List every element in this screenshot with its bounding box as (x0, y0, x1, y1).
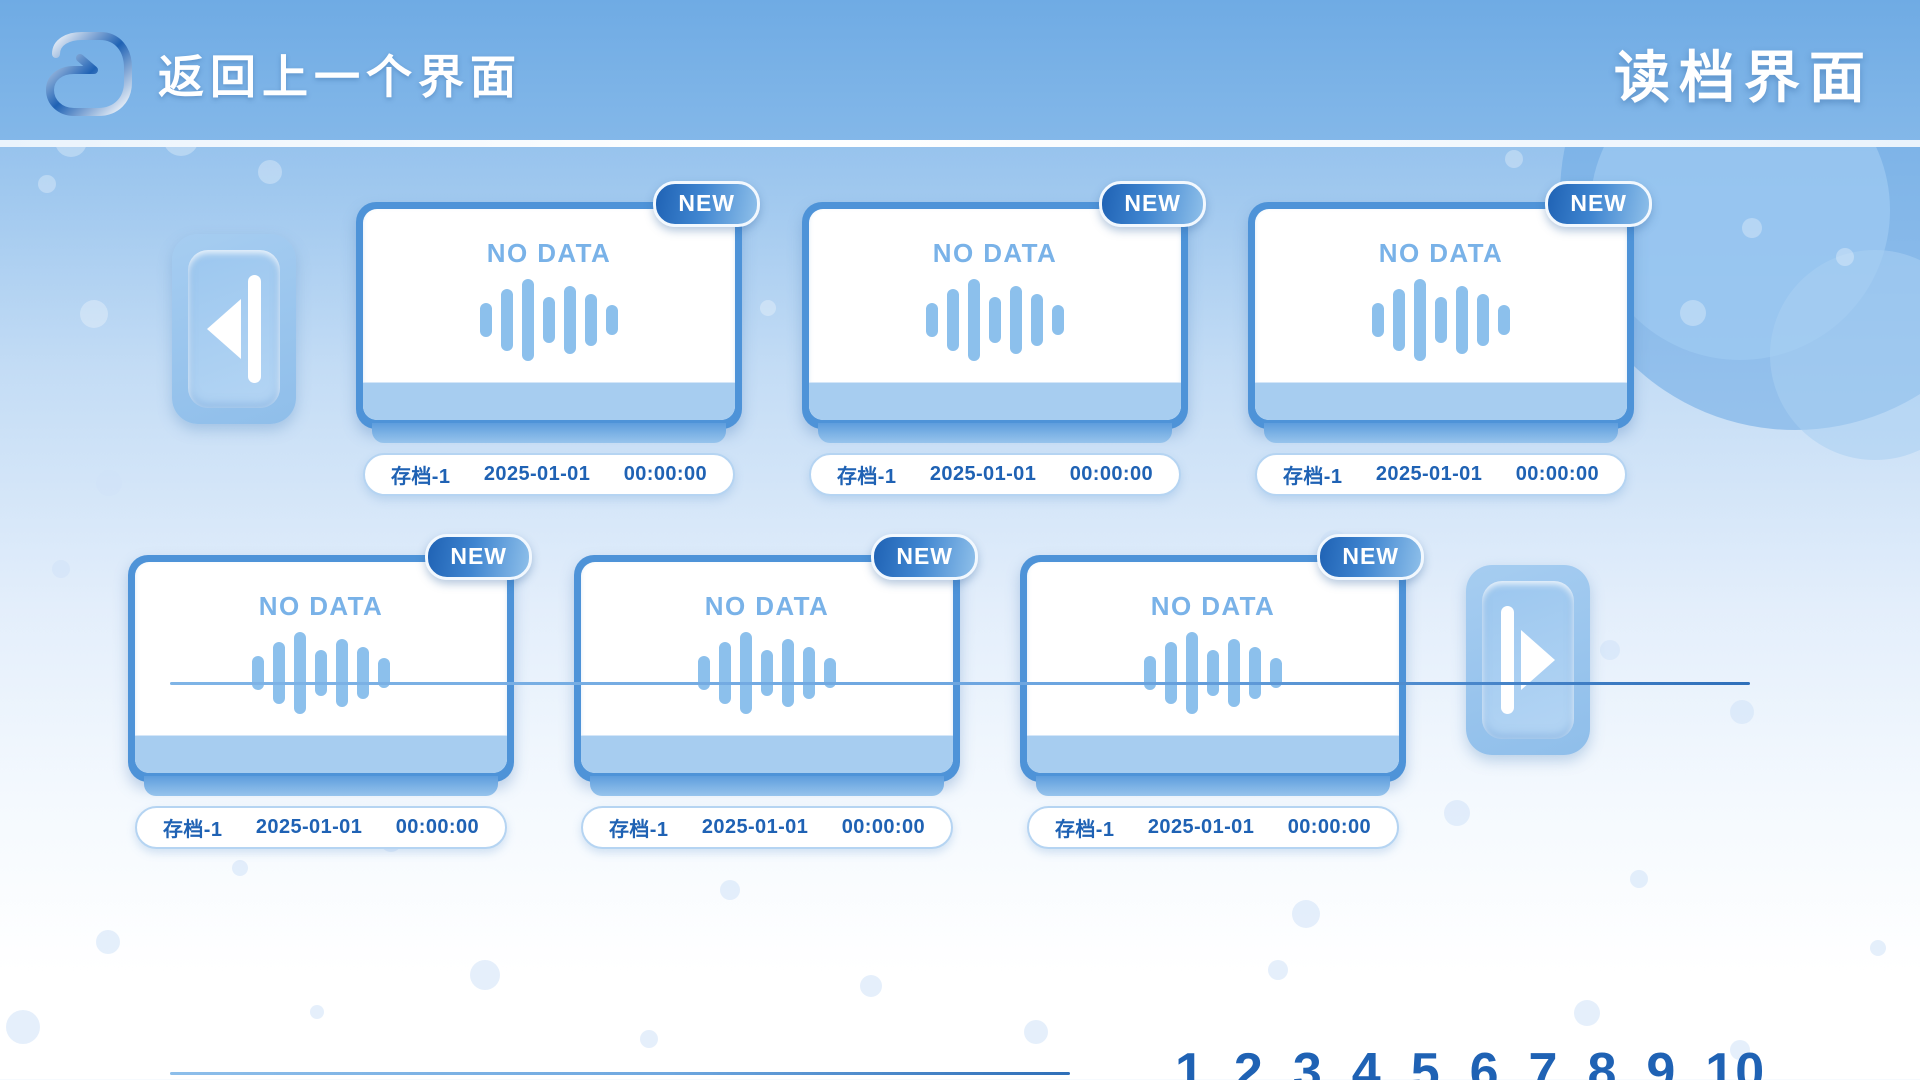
waveform-bar (273, 642, 285, 704)
save-slot-time: 00:00:00 (396, 816, 479, 839)
save-slot-preview: NO DATA (363, 209, 735, 420)
save-slot-preview: NO DATA (1027, 562, 1399, 773)
waveform-bar (740, 632, 752, 714)
save-slot[interactable]: NEW NO DATA 存档-1 2025-01-01 00:00:00 (1248, 202, 1634, 496)
waveform-bar (1031, 294, 1043, 346)
card-base (818, 423, 1172, 443)
page-number-9[interactable]: 9 (1646, 1042, 1676, 1080)
save-slot-name: 存档-1 (1055, 813, 1114, 842)
save-slot-date: 2025-01-01 (702, 816, 808, 839)
card-shelf (363, 382, 735, 420)
save-slot-row-1: NEW NO DATA 存档-1 2025-01-01 00:00:00 NEW… (172, 202, 1634, 496)
page-number-8[interactable]: 8 (1587, 1042, 1617, 1080)
waveform-bar (1393, 289, 1405, 351)
save-slot-preview: NO DATA (1255, 209, 1627, 420)
waveform-icon (1372, 277, 1510, 363)
save-slot-time: 00:00:00 (842, 816, 925, 839)
save-slot-date: 2025-01-01 (1148, 816, 1254, 839)
bottom-divider (170, 1072, 1070, 1075)
save-slot-row-2: NEW NO DATA 存档-1 2025-01-01 00:00:00 NEW… (128, 555, 1590, 849)
new-badge[interactable]: NEW (1317, 534, 1424, 580)
waveform-bar (1010, 286, 1022, 354)
save-slot[interactable]: NEW NO DATA 存档-1 2025-01-01 00:00:00 (574, 555, 960, 849)
waveform-bar (947, 289, 959, 351)
waveform-bar (1414, 279, 1426, 361)
save-slot-card[interactable]: NEW NO DATA (574, 555, 960, 782)
waveform-bar (926, 303, 938, 337)
save-slot-time: 00:00:00 (1070, 463, 1153, 486)
waveform-bar (564, 286, 576, 354)
save-slot-date: 2025-01-01 (930, 463, 1036, 486)
save-slot-meta: 存档-1 2025-01-01 00:00:00 (1027, 806, 1399, 849)
main-stage: NEW NO DATA 存档-1 2025-01-01 00:00:00 NEW… (0, 147, 1920, 1080)
next-page-button-inner (1482, 581, 1574, 739)
save-slot-time: 00:00:00 (1516, 463, 1599, 486)
page-bar-icon (1501, 606, 1514, 714)
waveform-bar (1052, 305, 1064, 335)
save-slot-date: 2025-01-01 (256, 816, 362, 839)
waveform-bar (1456, 286, 1468, 354)
save-slot-time: 00:00:00 (624, 463, 707, 486)
save-slot[interactable]: NEW NO DATA 存档-1 2025-01-01 00:00:00 (802, 202, 1188, 496)
no-data-label: NO DATA (1379, 238, 1503, 269)
page-number-4[interactable]: 4 (1352, 1042, 1382, 1080)
waveform-bar (336, 639, 348, 707)
save-slot-name: 存档-1 (1283, 460, 1342, 489)
waveform-bar (1435, 297, 1447, 343)
page-number-1[interactable]: 1 (1175, 1042, 1205, 1080)
new-badge[interactable]: NEW (653, 181, 760, 227)
save-slot-meta: 存档-1 2025-01-01 00:00:00 (363, 453, 735, 496)
card-shelf (1255, 382, 1627, 420)
page-number-5[interactable]: 5 (1411, 1042, 1441, 1080)
save-slot-name: 存档-1 (837, 460, 896, 489)
save-slot-meta: 存档-1 2025-01-01 00:00:00 (581, 806, 953, 849)
new-badge[interactable]: NEW (1545, 181, 1652, 227)
page-number-6[interactable]: 6 (1470, 1042, 1500, 1080)
no-data-label: NO DATA (1151, 591, 1275, 622)
card-base (372, 423, 726, 443)
card-shelf (135, 735, 507, 773)
waveform-bar (585, 294, 597, 346)
card-base (1264, 423, 1618, 443)
waveform-bar (294, 632, 306, 714)
waveform-bar (1372, 303, 1384, 337)
page-bar-icon (248, 275, 261, 383)
save-slot-time: 00:00:00 (1288, 816, 1371, 839)
waveform-bar (606, 305, 618, 335)
save-slot-meta: 存档-1 2025-01-01 00:00:00 (135, 806, 507, 849)
waveform-bar (782, 639, 794, 707)
back-button-label: 返回上一个界面 (158, 41, 522, 107)
save-slot-card[interactable]: NEW NO DATA (1248, 202, 1634, 429)
top-header-bar: 返回上一个界面 读档界面 (0, 0, 1920, 147)
waveform-bar (501, 289, 513, 351)
save-slot[interactable]: NEW NO DATA 存档-1 2025-01-01 00:00:00 (128, 555, 514, 849)
waveform-bar (543, 297, 555, 343)
save-slot[interactable]: NEW NO DATA 存档-1 2025-01-01 00:00:00 (1020, 555, 1406, 849)
new-badge[interactable]: NEW (871, 534, 978, 580)
waveform-bar (1228, 639, 1240, 707)
waveform-bar (1207, 650, 1219, 696)
save-slot[interactable]: NEW NO DATA 存档-1 2025-01-01 00:00:00 (356, 202, 742, 496)
save-slot-card[interactable]: NEW NO DATA (802, 202, 1188, 429)
save-slot-preview: NO DATA (135, 562, 507, 773)
waveform-bar (719, 642, 731, 704)
back-arrow-icon (40, 32, 132, 116)
no-data-label: NO DATA (259, 591, 383, 622)
next-page-button[interactable] (1466, 565, 1590, 755)
new-badge[interactable]: NEW (425, 534, 532, 580)
prev-page-button-inner (188, 250, 280, 408)
page-number-3[interactable]: 3 (1293, 1042, 1323, 1080)
card-base (144, 776, 498, 796)
pagination: 12345678910 (1175, 1042, 1765, 1080)
waveform-bar (1477, 294, 1489, 346)
waveform-icon (1144, 630, 1282, 716)
save-slot-meta: 存档-1 2025-01-01 00:00:00 (1255, 453, 1627, 496)
waveform-bar (1249, 647, 1261, 699)
no-data-label: NO DATA (933, 238, 1057, 269)
waveform-bar (1186, 632, 1198, 714)
save-slot-preview: NO DATA (809, 209, 1181, 420)
page-title: 读档界面 (1614, 33, 1874, 114)
save-slot-preview: NO DATA (581, 562, 953, 773)
waveform-bar (803, 647, 815, 699)
save-slot-card[interactable]: NEW NO DATA (128, 555, 514, 782)
save-slot-name: 存档-1 (391, 460, 450, 489)
card-shelf (581, 735, 953, 773)
waveform-bar (989, 297, 1001, 343)
save-slot-meta: 存档-1 2025-01-01 00:00:00 (809, 453, 1181, 496)
waveform-bar (522, 279, 534, 361)
waveform-icon (252, 630, 390, 716)
no-data-label: NO DATA (487, 238, 611, 269)
waveform-bar (357, 647, 369, 699)
new-badge[interactable]: NEW (1099, 181, 1206, 227)
save-slot-name: 存档-1 (163, 813, 222, 842)
chevron-left-icon (207, 299, 241, 359)
waveform-bar (315, 650, 327, 696)
waveform-icon (480, 277, 618, 363)
row-divider (170, 682, 1750, 685)
chevron-right-icon (1521, 630, 1555, 690)
card-base (1036, 776, 1390, 796)
prev-page-button[interactable] (172, 234, 296, 424)
save-slot-card[interactable]: NEW NO DATA (1020, 555, 1406, 782)
page-number-7[interactable]: 7 (1529, 1042, 1559, 1080)
waveform-icon (926, 277, 1064, 363)
waveform-bar (1498, 305, 1510, 335)
save-slot-name: 存档-1 (609, 813, 668, 842)
card-shelf (1027, 735, 1399, 773)
save-slot-date: 2025-01-01 (484, 463, 590, 486)
no-data-label: NO DATA (705, 591, 829, 622)
save-slot-card[interactable]: NEW NO DATA (356, 202, 742, 429)
page-number-10[interactable]: 10 (1705, 1042, 1765, 1080)
card-base (590, 776, 944, 796)
back-button[interactable]: 返回上一个界面 (40, 32, 522, 116)
waveform-bar (968, 279, 980, 361)
waveform-bar (761, 650, 773, 696)
waveform-bar (1165, 642, 1177, 704)
waveform-icon (698, 630, 836, 716)
waveform-bar (480, 303, 492, 337)
save-slot-date: 2025-01-01 (1376, 463, 1482, 486)
page-number-2[interactable]: 2 (1234, 1042, 1264, 1080)
card-shelf (809, 382, 1181, 420)
